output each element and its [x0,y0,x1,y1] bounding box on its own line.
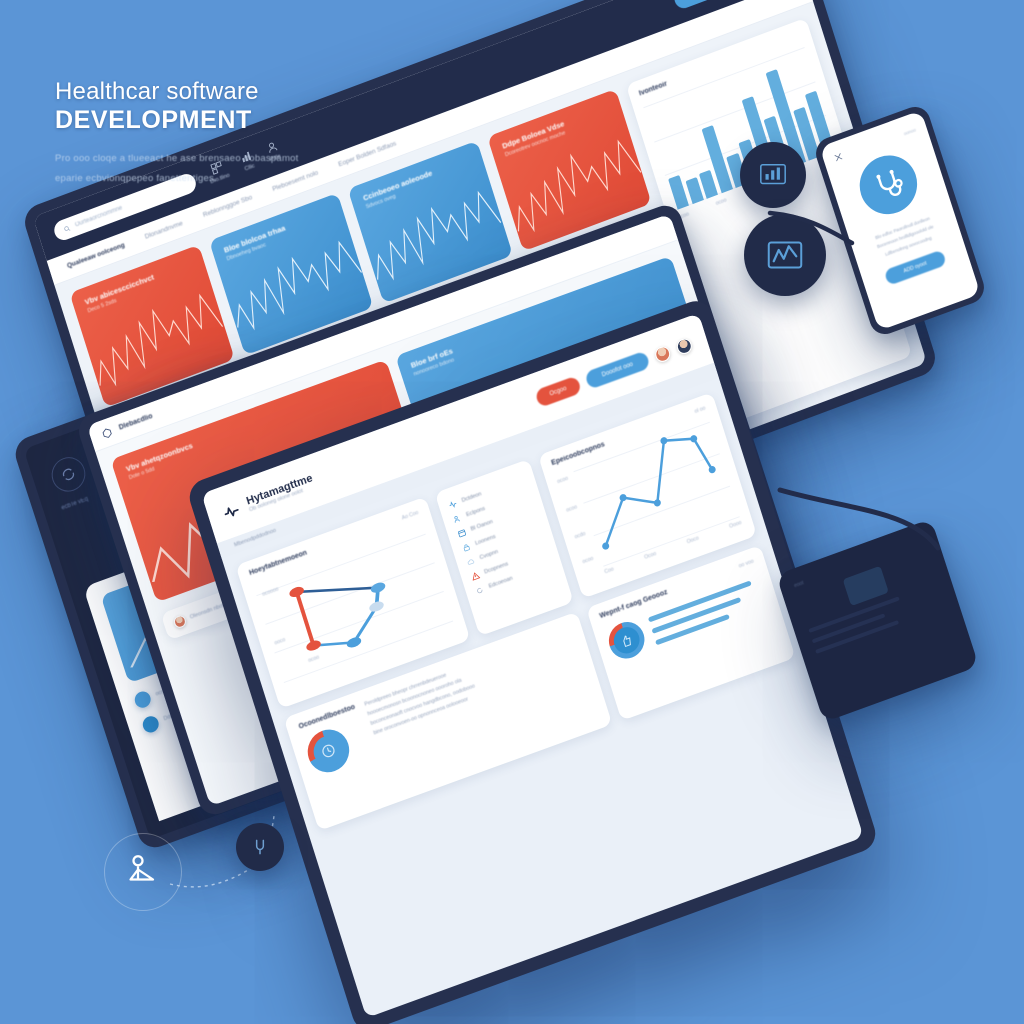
avatar[interactable] [675,336,694,355]
category-bar-list [647,577,767,645]
search-placeholder: Ourteaorcnommne [75,205,124,228]
tag-icon [474,585,484,595]
logo-icon [101,426,113,439]
completion-donut [302,724,354,778]
engagement-line-chart: ocoo ocoo ocdo ocoo [572,418,740,567]
primary-action-button[interactable]: Dooofot ooo [584,350,650,389]
pin-icon [250,837,270,857]
avatar [172,614,187,630]
desktop-cta-button[interactable]: Ashrtdu [672,0,727,11]
cable-connector [760,480,980,630]
sidebar-item-label: Edcoeoan [488,575,513,589]
headline-block: Healthcar software DEVELOPMENT Pro ooo c… [55,78,385,189]
action-icon-button[interactable] [133,689,153,710]
card-meta: Ao Coo [401,509,419,521]
lock-icon [461,542,471,552]
status-donut-small [604,617,649,664]
stats-icon [319,741,339,762]
alert-icon [470,571,480,581]
sync-icon [47,452,89,496]
dashed-connector [160,812,300,922]
card-title: Ocoonedlboestoo [298,703,356,730]
card-meta: oo voo [738,558,754,569]
search-icon [63,225,70,233]
card-meta: ol oo [694,405,706,415]
badge-connector [700,165,870,295]
avatar[interactable] [653,344,672,363]
mockup-stage: Healthcar software DEVELOPMENT Pro ooo c… [0,0,1024,1024]
page-title: DEVELOPMENT [55,106,385,135]
danger-action-button[interactable]: Ocgoo [534,375,582,408]
menu-icon[interactable] [833,152,843,162]
heartbeat-logo-icon [222,501,241,520]
node-relationship-chart: ocoooo ooco ocoo [252,521,453,686]
headline-subtitle: Pro ooo cloqe a tlueeact he ase brensaeo… [55,149,305,189]
tab-records[interactable]: Dlonandnvme [144,220,184,241]
users-icon [452,513,462,523]
activity-icon [447,499,457,509]
calendar-icon [456,528,466,538]
cloud-icon [465,556,475,566]
action-icon-button[interactable] [141,714,161,735]
pin-badge[interactable] [236,823,284,871]
thumbs-up-icon [618,632,634,649]
headline-line-1: Healthcar software [55,78,385,106]
user-presentation-icon [123,852,163,892]
